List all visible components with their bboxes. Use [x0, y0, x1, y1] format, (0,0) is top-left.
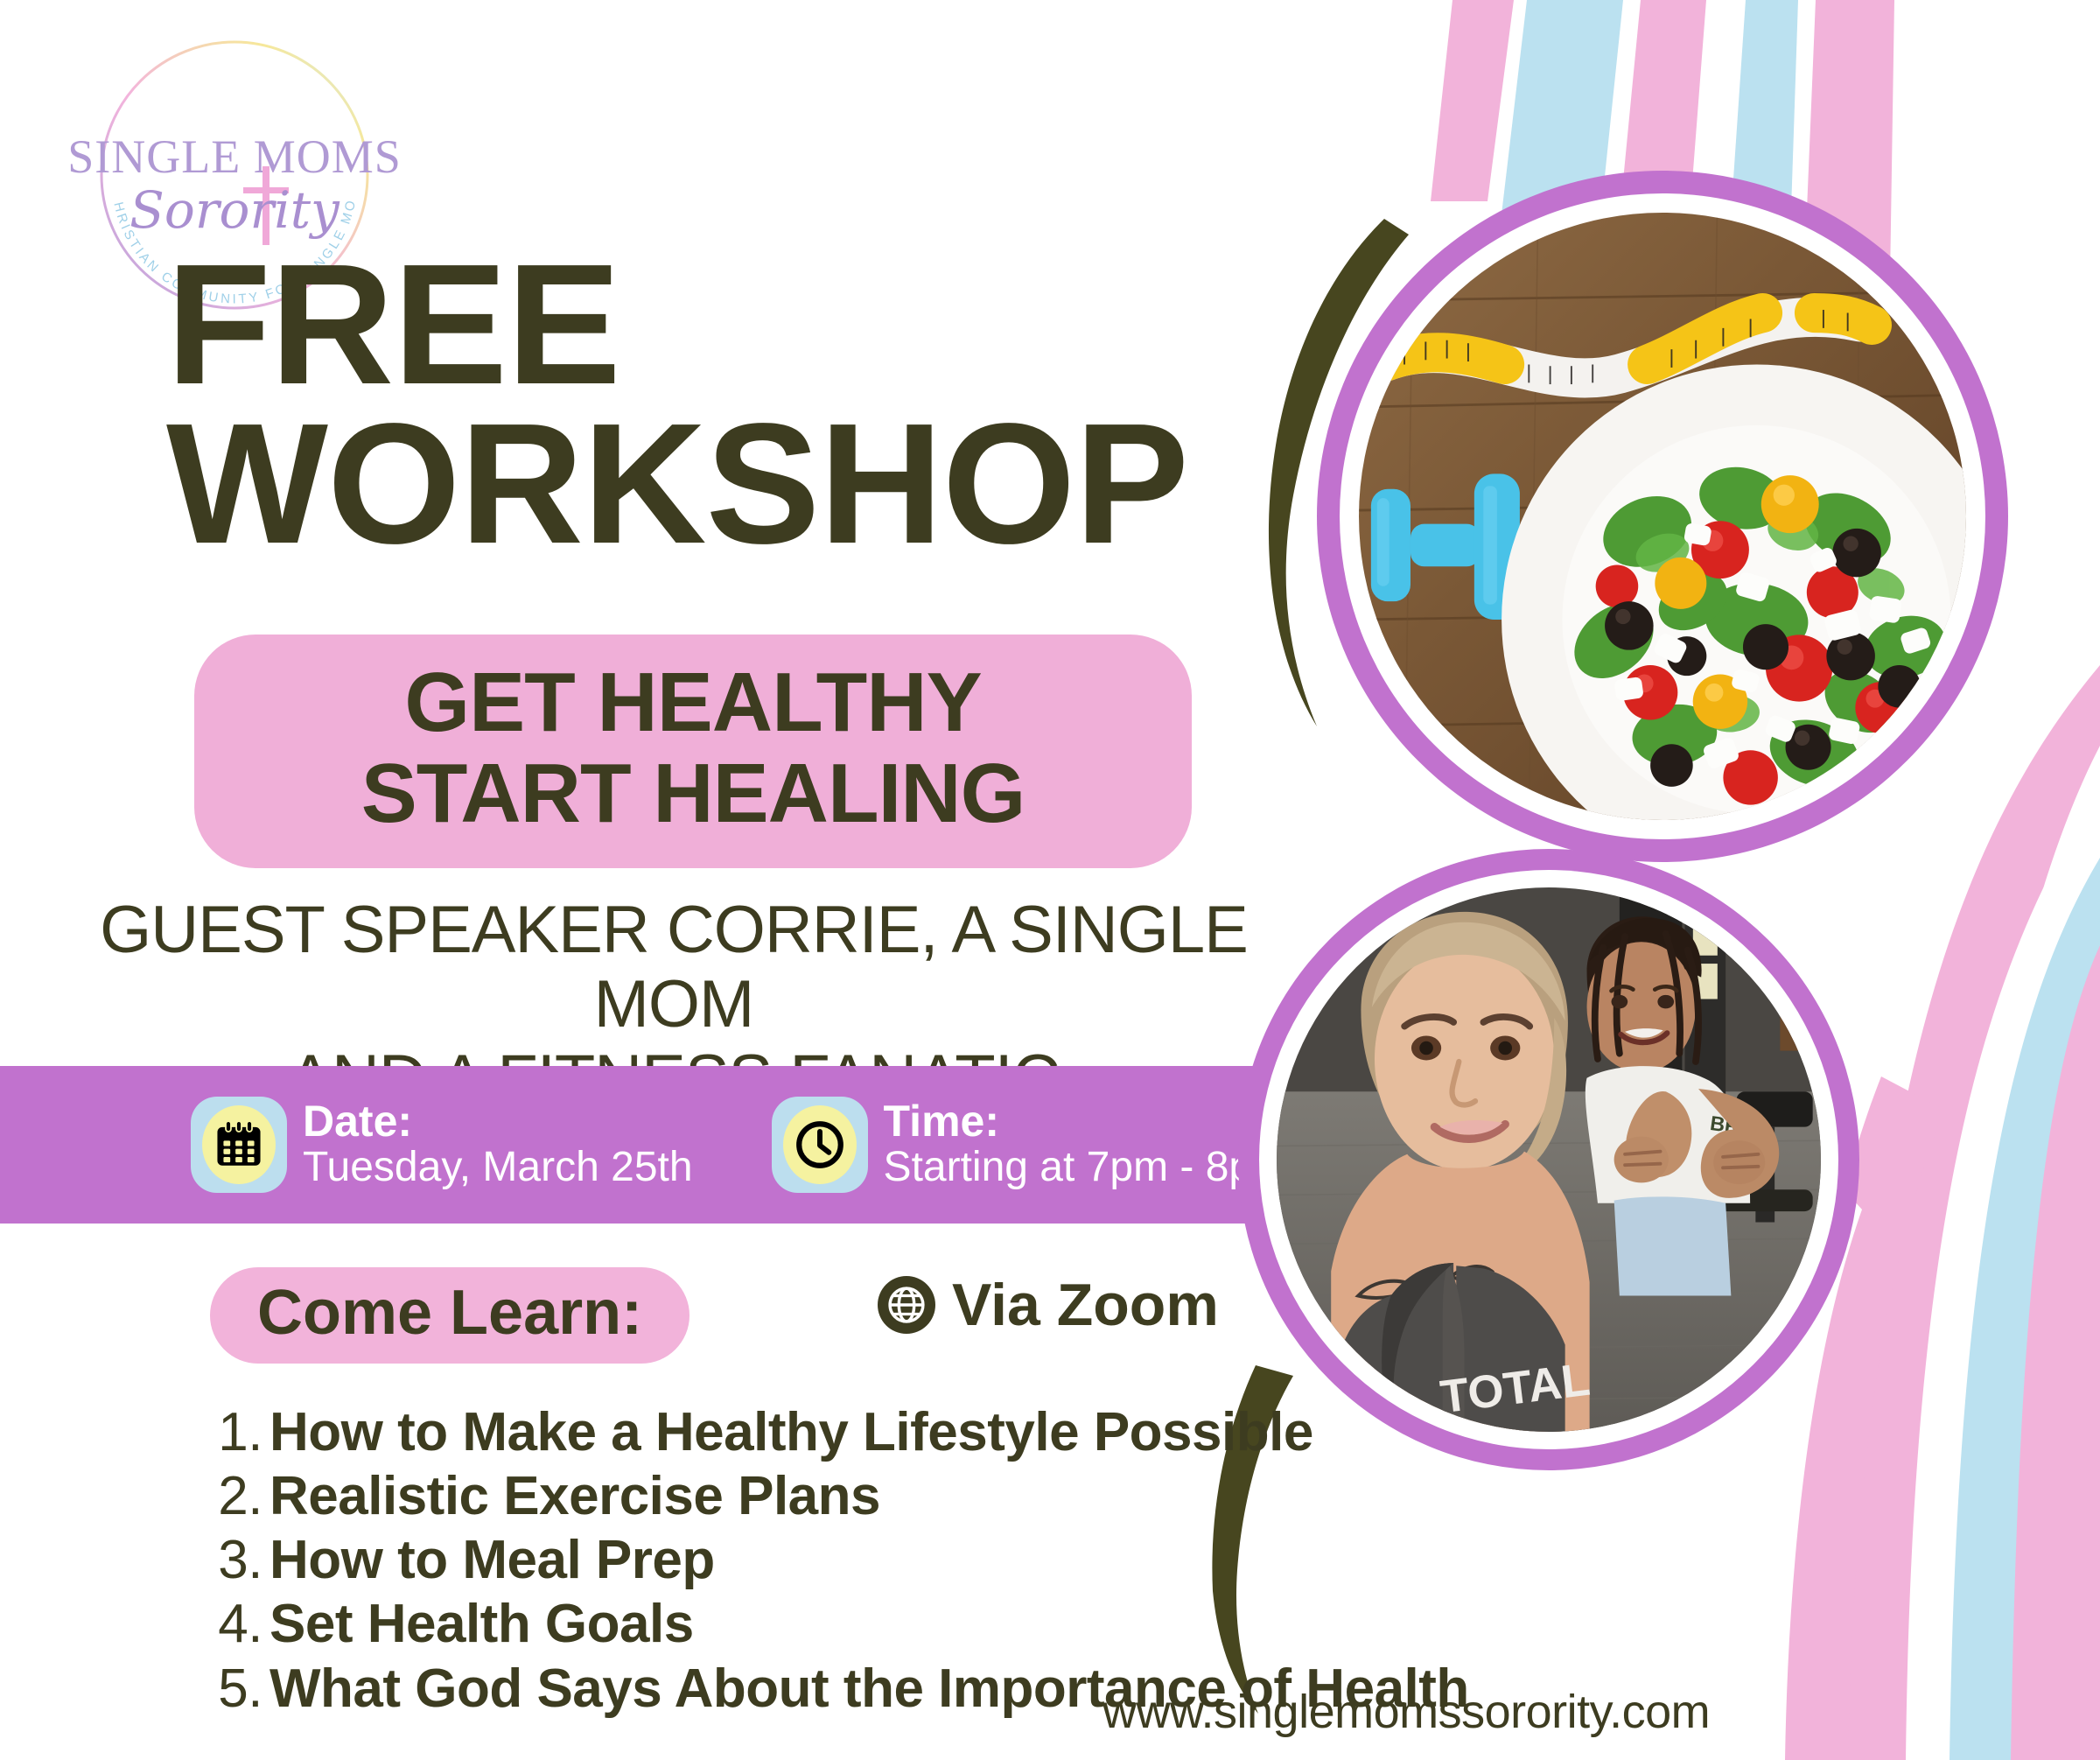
platform-badge: Via Zoom	[875, 1273, 1219, 1336]
calendar-badge	[191, 1097, 287, 1193]
come-learn-heading: Come Learn:	[210, 1267, 689, 1364]
headline-line-2: WORKSHOP	[166, 404, 1242, 564]
learn-topics-list: 1. How to Make a Healthy Lifestyle Possi…	[208, 1400, 1346, 1721]
calendar-icon	[212, 1118, 266, 1172]
list-item-number: 5.	[208, 1657, 262, 1721]
list-item: 2. Realistic Exercise Plans	[208, 1464, 1346, 1528]
date-detail: Date: Tuesday, March 25th	[191, 1097, 693, 1193]
event-details-band: Date: Tuesday, March 25th Time: Starting…	[0, 1066, 1270, 1224]
salad-photo	[1359, 213, 1966, 820]
list-item-number: 4.	[208, 1592, 262, 1656]
subtitle-banner: GET HEALTHY START HEALING	[194, 635, 1192, 868]
website-url[interactable]: www.singlemomssorority.com	[1102, 1685, 1710, 1739]
date-label: Date:	[303, 1098, 693, 1145]
speaker-photo: BRO	[1277, 887, 1821, 1432]
globe-icon	[875, 1273, 938, 1336]
subtitle-line-2: START HEALING	[194, 748, 1192, 839]
date-value: Tuesday, March 25th	[303, 1144, 693, 1191]
clock-badge	[772, 1097, 868, 1193]
page-title: FREE WORKSHOP	[166, 245, 1242, 564]
flyer-canvas: SINGLE MOMS Sorority A CHRISTIAN COMMUNI…	[0, 0, 2100, 1760]
list-item-number: 1.	[208, 1400, 262, 1464]
platform-label: Via Zoom	[952, 1275, 1219, 1335]
headline-line-1: FREE	[166, 245, 1242, 404]
list-item-label: Realistic Exercise Plans	[269, 1464, 880, 1528]
salad-photo-circle	[1317, 171, 2008, 862]
list-item: 4. Set Health Goals	[208, 1592, 1346, 1656]
speaker-line-1: GUEST SPEAKER CORRIE, A SINGLE MOM	[35, 893, 1312, 1041]
list-item-number: 3.	[208, 1528, 262, 1592]
list-item-label: How to Make a Healthy Lifestyle Possible	[269, 1400, 1313, 1464]
list-item: 3. How to Meal Prep	[208, 1528, 1346, 1592]
list-item-number: 2.	[208, 1464, 262, 1528]
speaker-photo-circle: BRO	[1238, 849, 1859, 1470]
list-item-label: Set Health Goals	[269, 1592, 694, 1656]
list-item: 1. How to Make a Healthy Lifestyle Possi…	[208, 1400, 1346, 1464]
clock-icon	[793, 1118, 847, 1172]
list-item-label: How to Meal Prep	[269, 1528, 715, 1592]
come-learn-label: Come Learn:	[257, 1278, 642, 1348]
subtitle-line-1: GET HEALTHY	[194, 657, 1192, 748]
